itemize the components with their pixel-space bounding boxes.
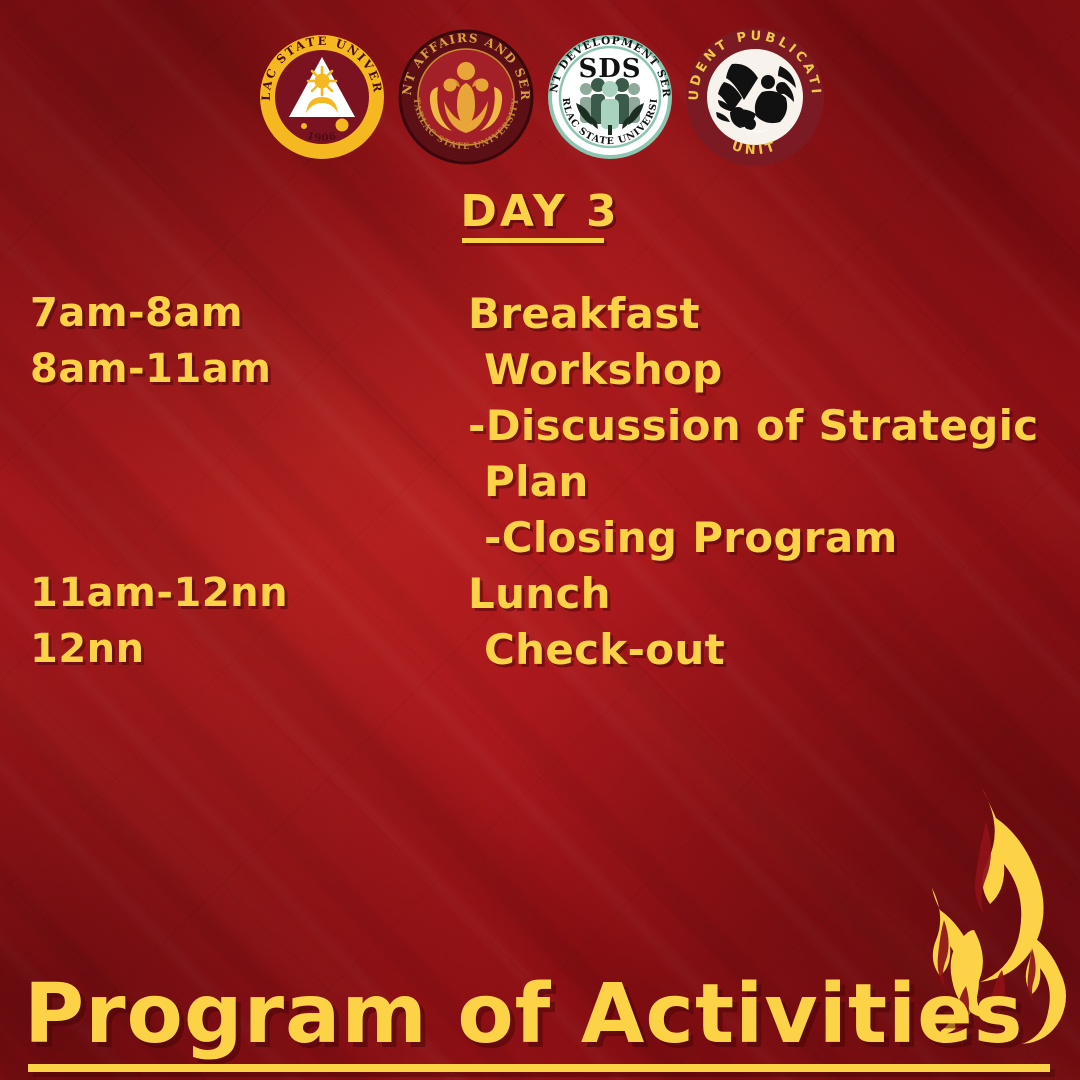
schedule-time: 11am-12nn	[30, 566, 468, 620]
schedule-activity-line: Breakfast	[468, 286, 1070, 342]
student-development-services-seal-icon: STUDENT DEVELOPMENT SERVICES TARLAC STAT…	[542, 29, 678, 165]
schedule-activities: Lunch	[468, 566, 1070, 622]
schedule-row: 12nnCheck-out	[30, 622, 1070, 678]
svg-text:SDS: SDS	[578, 54, 641, 84]
schedule-activities: Breakfast	[468, 286, 1070, 342]
schedule-row: 7am-8amBreakfast	[30, 286, 1070, 342]
schedule-activity-line: Check-out	[468, 622, 1070, 678]
schedule-time: 7am-8am	[30, 286, 468, 340]
schedule-activity-line: Plan	[468, 454, 1070, 510]
schedule-activity-line: -Closing Program	[468, 510, 1070, 566]
schedule-activity-line: -Discussion of Strategic	[468, 398, 1070, 454]
day-heading-text: DAY 3	[460, 186, 619, 243]
schedule-activities: Check-out	[468, 622, 1070, 678]
tarlac-state-university-seal-icon: TARLAC STATE UNIVERSITY 1906	[254, 29, 390, 165]
poster-canvas: TARLAC STATE UNIVERSITY 1906	[0, 0, 1080, 1080]
schedule-row: 11am-12nnLunch	[30, 566, 1070, 622]
schedule-row: 8am-11amWorkshop-Discussion of Strategic…	[30, 342, 1070, 566]
day-heading: DAY 3	[0, 186, 1080, 243]
schedule-activity-line: Lunch	[468, 566, 1070, 622]
poster-title-text: Program of Activities	[24, 967, 1024, 1074]
schedule-activity-line: Workshop	[468, 342, 1070, 398]
student-publication-unit-seal-icon: STUDENT PUBLICATION UNIT	[684, 26, 826, 168]
schedule-list: 7am-8amBreakfast8am-11amWorkshop-Discuss…	[30, 286, 1070, 678]
schedule-time: 12nn	[30, 622, 468, 676]
schedule-time: 8am-11am	[30, 342, 468, 396]
logo-row: TARLAC STATE UNIVERSITY 1906	[0, 26, 1080, 168]
student-affairs-and-services-seal-icon: STUDENT AFFAIRS AND SERVICES TARLAC STAT…	[396, 27, 536, 167]
poster-title: Program of Activities	[24, 967, 1034, 1074]
schedule-activities: Workshop-Discussion of StrategicPlan-Clo…	[468, 342, 1070, 566]
